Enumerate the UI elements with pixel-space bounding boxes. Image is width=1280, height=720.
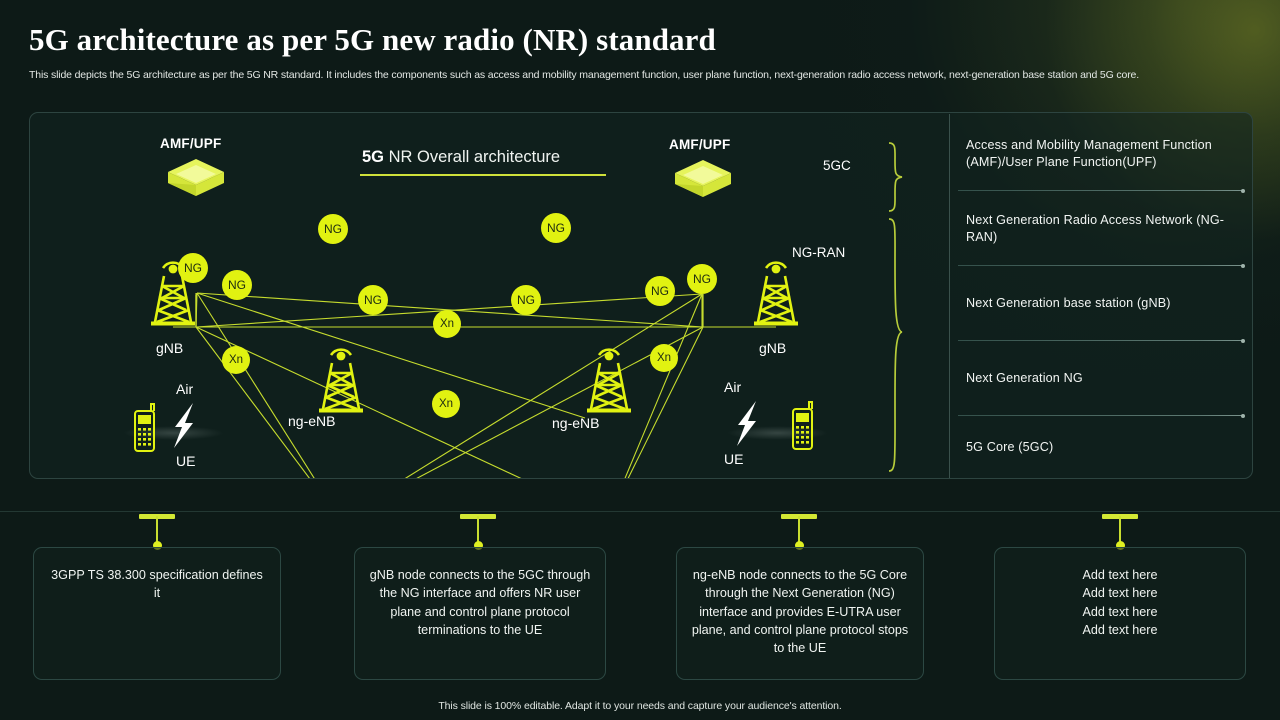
legend-item-label: Next Generation NG bbox=[966, 370, 1083, 388]
diagram-title-underline bbox=[360, 174, 606, 176]
ngenb-right-tower-icon bbox=[582, 339, 636, 417]
legend-item-label: Access and Mobility Management Function … bbox=[966, 137, 1235, 172]
label-ue-left: UE bbox=[176, 453, 195, 469]
legend-item-3[interactable]: Next Generation NG bbox=[950, 347, 1253, 411]
label-ngenb-left: ng-eNB bbox=[288, 413, 335, 429]
legend-divider-0 bbox=[958, 190, 1243, 191]
info-card-text: Add text here Add text here Add text her… bbox=[1083, 566, 1158, 679]
ngenb-left-tower-icon bbox=[314, 339, 368, 417]
badge-ng-2: NG bbox=[222, 270, 252, 300]
label-amf-upf-left: AMF/UPF bbox=[160, 136, 221, 151]
label-gnb-right: gNB bbox=[759, 340, 786, 356]
air-bolt-right-icon bbox=[732, 401, 762, 447]
badge-ng-5: NG bbox=[541, 213, 571, 243]
legend-divider-2 bbox=[958, 340, 1243, 341]
badge-xn-10: Xn bbox=[432, 390, 460, 418]
label-amf-upf-right: AMF/UPF bbox=[669, 137, 730, 152]
legend-divider-3 bbox=[958, 415, 1243, 416]
label-gnb-left: gNB bbox=[156, 340, 183, 356]
legend-list: Access and Mobility Management Function … bbox=[950, 113, 1253, 478]
slide-root: 5G architecture as per 5G new radio (NR)… bbox=[0, 0, 1280, 720]
badge-xn-11: Xn bbox=[650, 344, 678, 372]
label-ue-right: UE bbox=[724, 451, 743, 467]
diagram-title: 5G NR Overall architecture bbox=[362, 148, 560, 167]
air-bolt-left-icon bbox=[169, 403, 199, 449]
label-air-left: Air bbox=[176, 381, 193, 397]
footer-note: This slide is 100% editable. Adapt it to… bbox=[0, 700, 1280, 712]
info-card-3[interactable]: Add text here Add text here Add text her… bbox=[994, 547, 1246, 680]
badge-xn-8: Xn bbox=[433, 310, 461, 338]
page-subtitle: This slide depicts the 5G architecture a… bbox=[29, 68, 1234, 82]
page-title: 5G architecture as per 5G new radio (NR)… bbox=[29, 22, 716, 58]
amf-upf-right-icon bbox=[672, 158, 734, 206]
info-card-text: 3GPP TS 38.300 specification defines it bbox=[48, 566, 266, 679]
diagram-title-bold: 5G bbox=[362, 148, 384, 166]
label-air-right: Air bbox=[724, 379, 741, 395]
legend-item-label: Next Generation base station (gNB) bbox=[966, 295, 1171, 313]
badge-ng-6: NG bbox=[645, 276, 675, 306]
diagram-title-rest: NR Overall architecture bbox=[384, 148, 560, 166]
phone-right-icon bbox=[791, 401, 817, 451]
legend-item-4[interactable]: 5G Core (5GC) bbox=[950, 423, 1253, 473]
gnb-right-tower-icon bbox=[749, 252, 803, 330]
legend-item-0[interactable]: Access and Mobility Management Function … bbox=[950, 121, 1253, 187]
info-card-text: ng-eNB node connects to the 5G Core thro… bbox=[691, 566, 909, 679]
architecture-panel: 5G NR Overall architecture AMF/UPF AMF/U… bbox=[29, 112, 1253, 479]
label-brace-ngran: NG-RAN bbox=[792, 245, 845, 260]
info-card-text: gNB node connects to the 5GC through the… bbox=[369, 566, 591, 679]
brace-icons bbox=[880, 131, 920, 478]
legend-item-label: Next Generation Radio Access Network (NG… bbox=[966, 212, 1235, 247]
info-card-0[interactable]: 3GPP TS 38.300 specification defines it bbox=[33, 547, 281, 680]
badge-ng-4: NG bbox=[511, 285, 541, 315]
badge-ng-0: NG bbox=[178, 253, 208, 283]
badge-ng-1: NG bbox=[318, 214, 348, 244]
legend-divider-1 bbox=[958, 265, 1243, 266]
network-diagram: 5G NR Overall architecture AMF/UPF AMF/U… bbox=[30, 113, 949, 478]
label-brace-5gc: 5GC bbox=[823, 158, 851, 173]
info-card-2[interactable]: ng-eNB node connects to the 5G Core thro… bbox=[676, 547, 924, 680]
legend-item-2[interactable]: Next Generation base station (gNB) bbox=[950, 272, 1253, 336]
info-card-1[interactable]: gNB node connects to the 5GC through the… bbox=[354, 547, 606, 680]
badge-ng-3: NG bbox=[358, 285, 388, 315]
badge-ng-7: NG bbox=[687, 264, 717, 294]
badge-xn-9: Xn bbox=[222, 346, 250, 374]
phone-left-icon bbox=[133, 403, 159, 453]
legend-item-label: 5G Core (5GC) bbox=[966, 439, 1053, 457]
label-ngenb-right: ng-eNB bbox=[552, 415, 599, 431]
amf-upf-left-icon bbox=[165, 157, 227, 205]
bottom-divider bbox=[0, 511, 1280, 512]
legend-item-1[interactable]: Next Generation Radio Access Network (NG… bbox=[950, 197, 1253, 261]
